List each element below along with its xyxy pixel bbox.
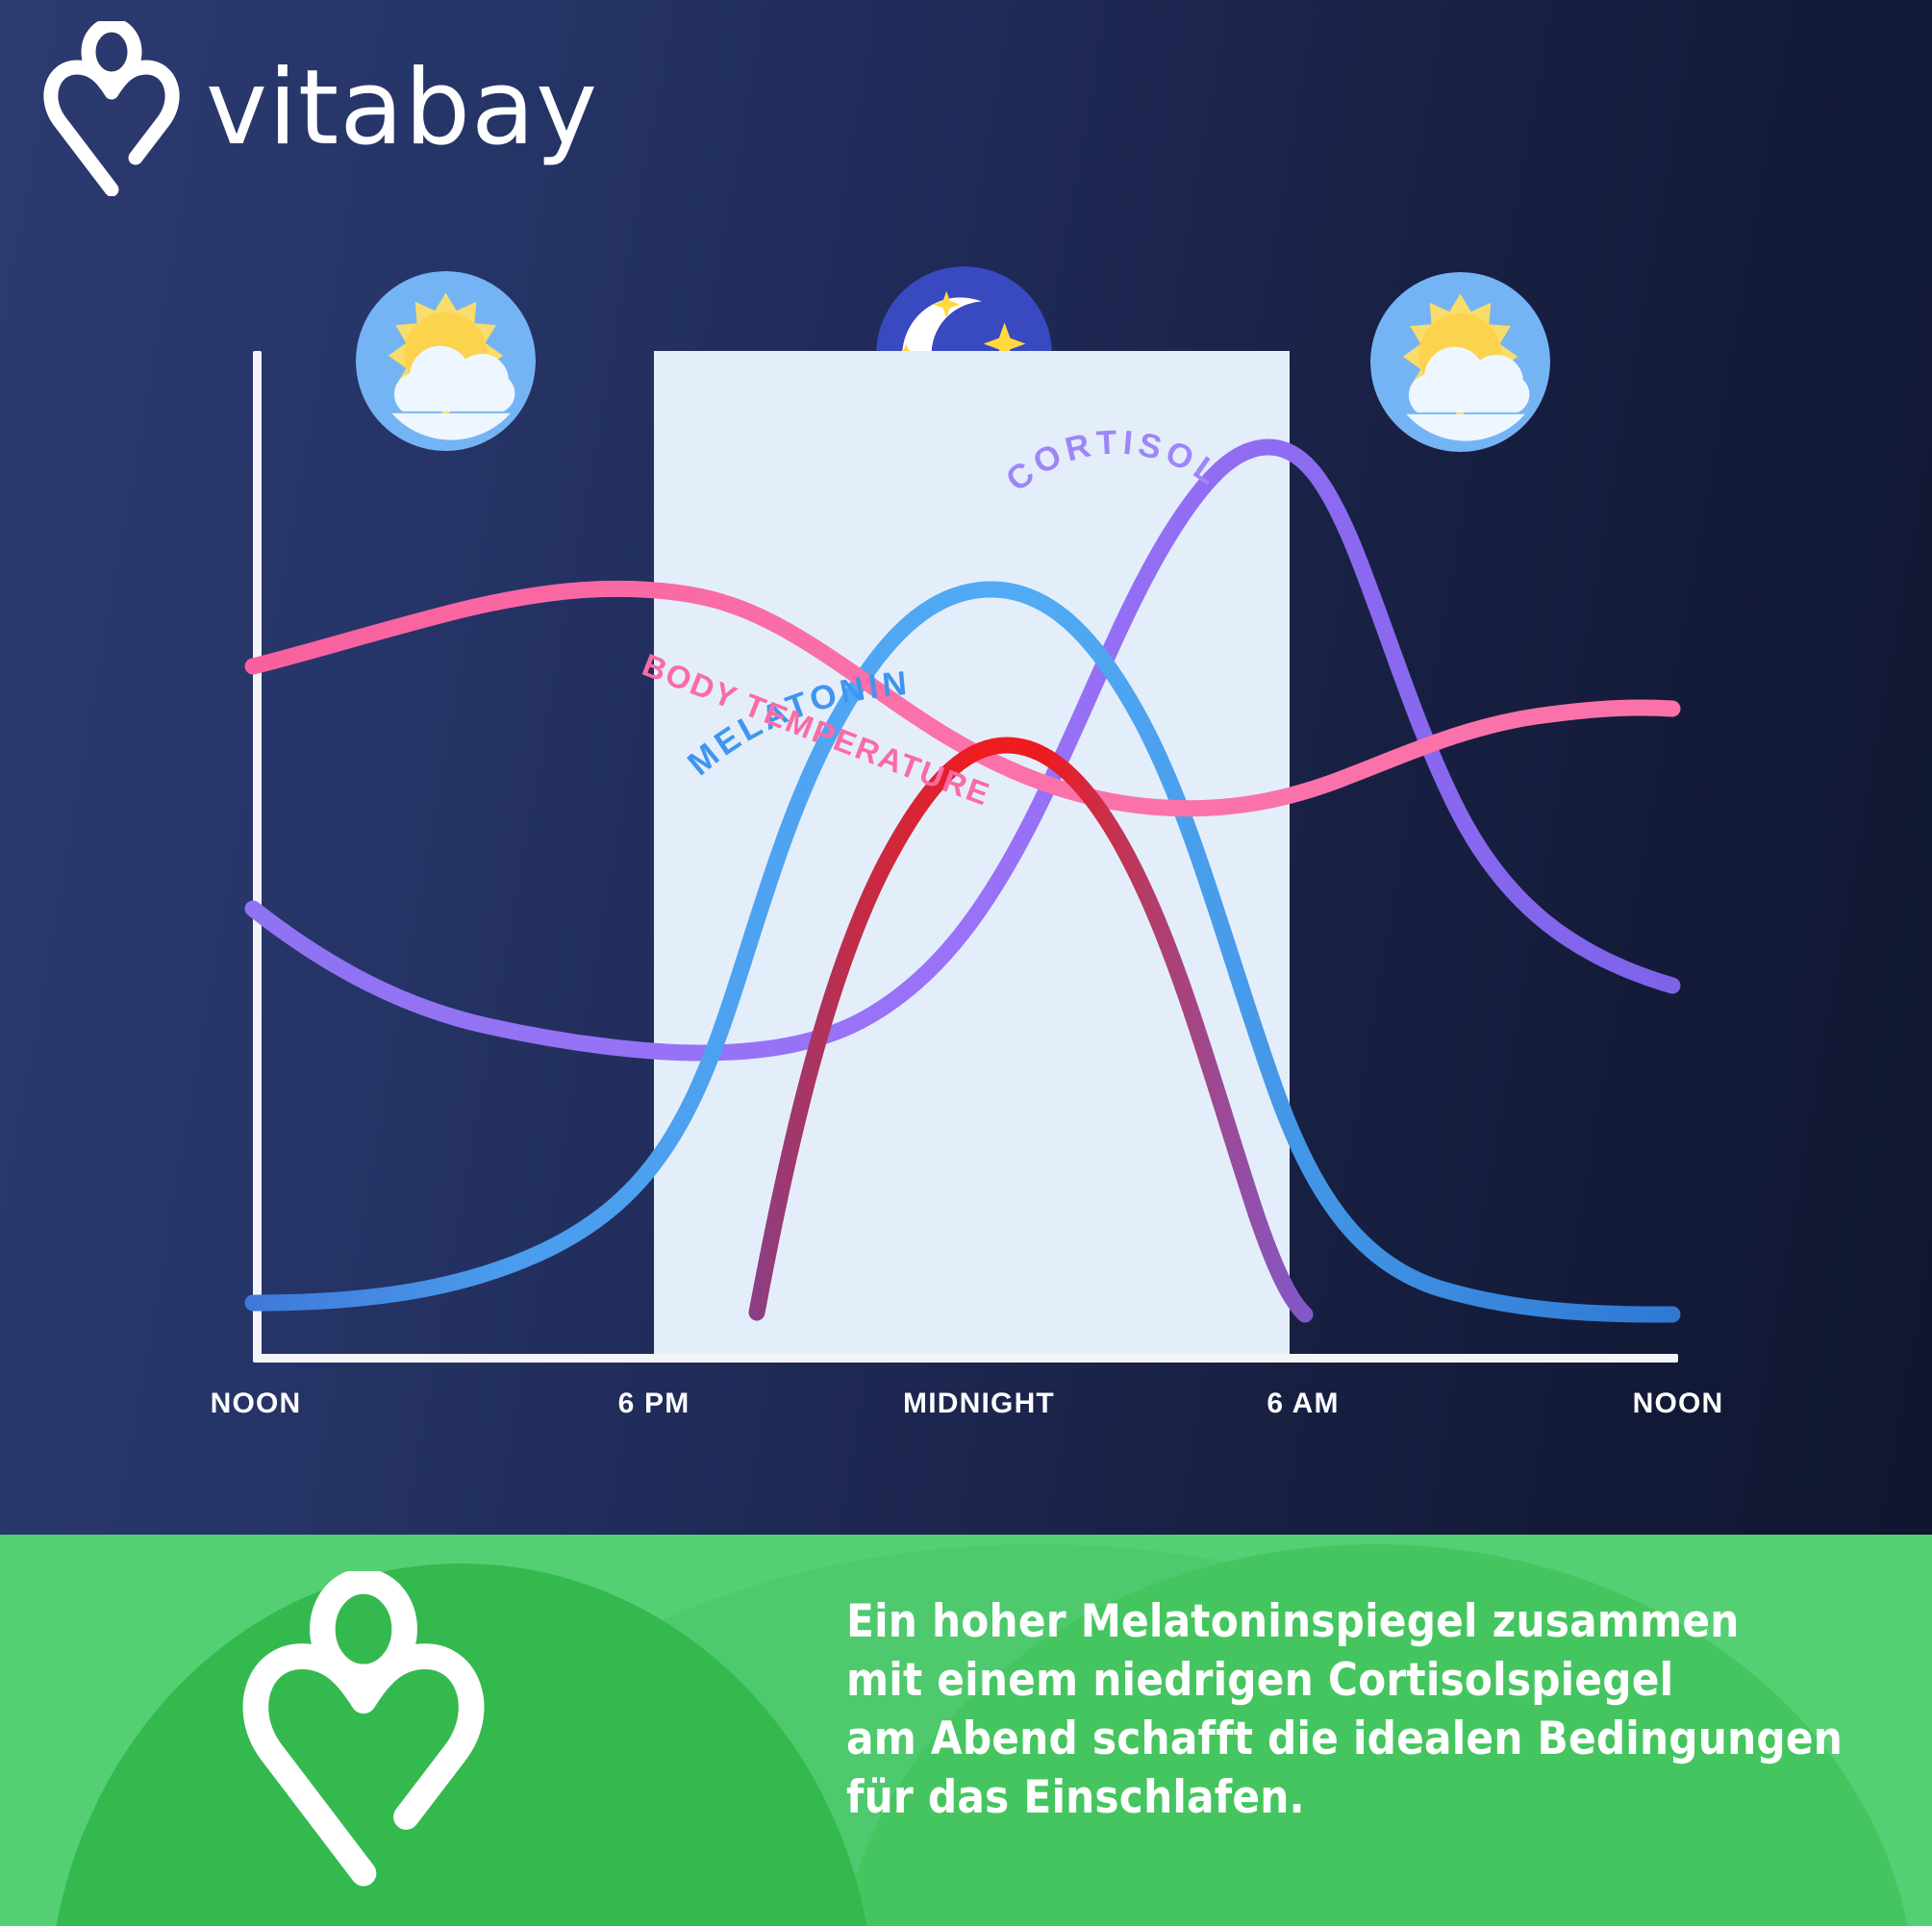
x-tick-label-noon-start: NOON xyxy=(211,1388,302,1420)
brand-lockup: vitabay xyxy=(38,21,598,196)
chart-panel: vitabay xyxy=(0,0,1932,1535)
x-tick-label-noon-end: NOON xyxy=(1633,1388,1724,1420)
vitabay-person-heart-logo-icon xyxy=(234,1571,493,1888)
callout-line-2: mit einem niedrigen Cortisolspiegel xyxy=(846,1651,1894,1710)
plot-area: MELATONIN CORTISOL BODY TEMPERATURE xyxy=(253,351,1678,1361)
series-melatonin-line xyxy=(253,589,1672,1314)
infographic-root: vitabay xyxy=(0,0,1932,1926)
vitabay-person-heart-logo-icon xyxy=(38,21,185,196)
x-tick-label-6pm: 6 PM xyxy=(618,1388,690,1420)
brand-name: vitabay xyxy=(206,57,598,161)
callout-line-3: am Abend schafft die idealen Bedingungen xyxy=(846,1710,1894,1768)
x-tick-label-6am: 6 AM xyxy=(1267,1388,1339,1420)
callout-line-1: Ein hoher Melatoninspiegel zusammen xyxy=(846,1592,1894,1651)
curve-layer: MELATONIN CORTISOL BODY TEMPERATURE xyxy=(247,293,1690,1380)
callout-line-4: für das Einschlafen. xyxy=(846,1768,1894,1827)
callout-panel: Ein hoher Melatoninspiegel zusammen mit … xyxy=(0,1535,1932,1926)
callout-text: Ein hoher Melatoninspiegel zusammen mit … xyxy=(846,1592,1894,1827)
x-tick-label-midnight: MIDNIGHT xyxy=(903,1388,1055,1420)
